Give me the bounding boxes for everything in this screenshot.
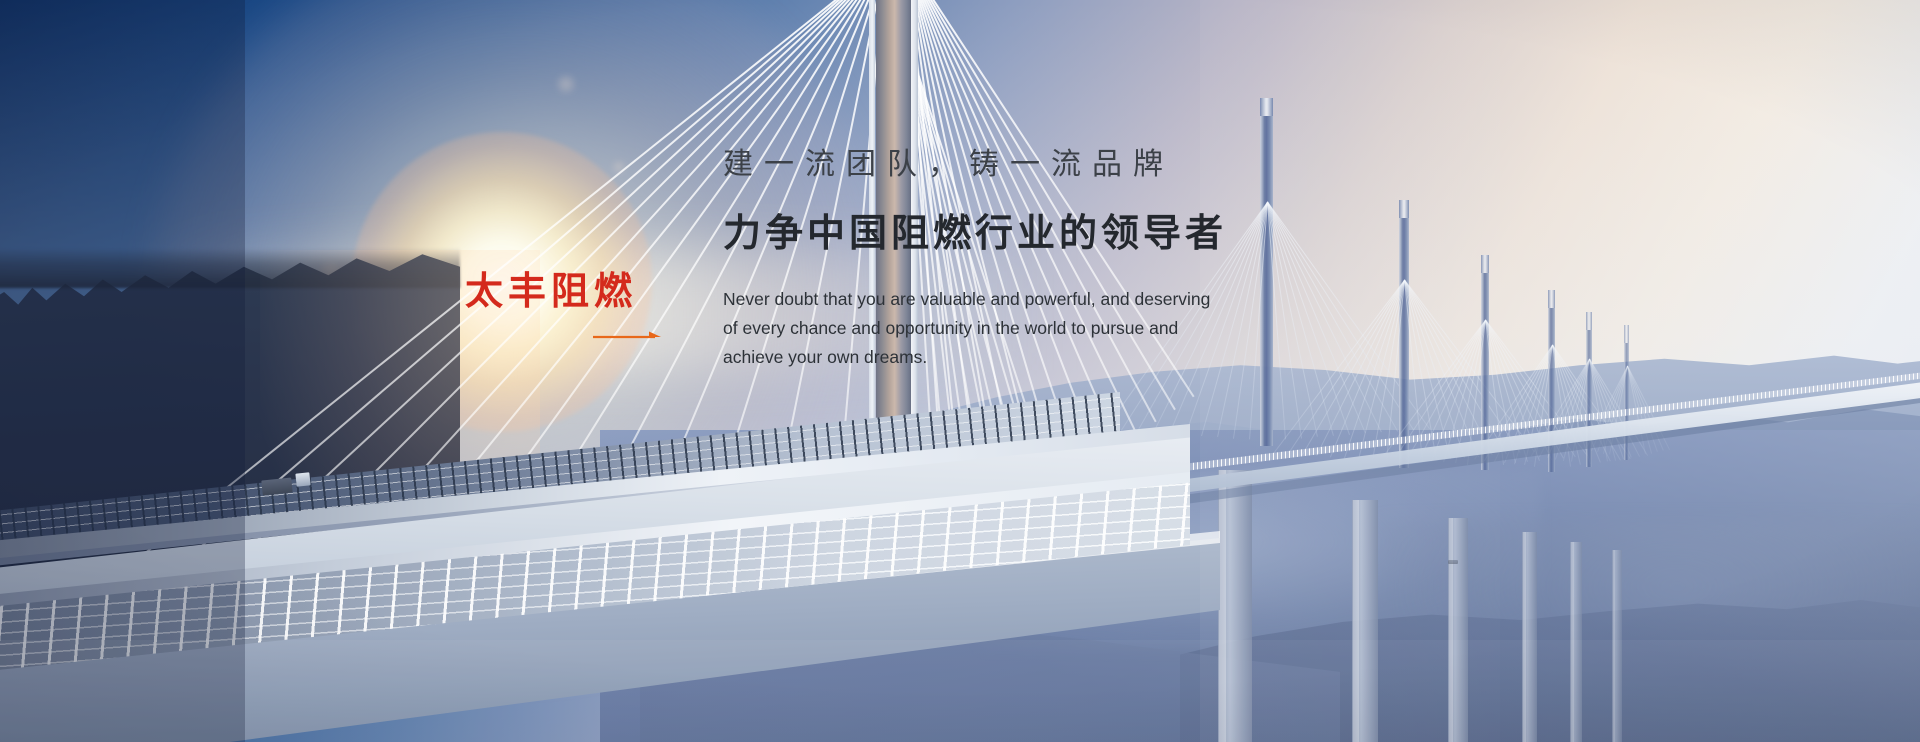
hero-subtext-line: achieve your own dreams. [723, 343, 1193, 372]
headline-primary: 建一流团队，铸一流品牌 [723, 148, 1543, 181]
arrow-right-icon [593, 330, 665, 344]
hero-banner: 太丰阻燃 建一流团队，铸一流品牌 力争中国阻燃行业的领导者 Never doub… [0, 0, 1920, 742]
hero-subtext-line: Never doubt that you are valuable and po… [723, 285, 1193, 314]
brand-logo-text: 太丰阻燃 [465, 272, 665, 310]
hero-subtext: Never doubt that you are valuable and po… [723, 285, 1193, 372]
hero-subtext-line: of every chance and opportunity in the w… [723, 314, 1193, 343]
headline-secondary: 力争中国阻燃行业的领导者 [723, 213, 1543, 255]
brand-logo[interactable]: 太丰阻燃 [465, 272, 665, 344]
hero-copy: 建一流团队，铸一流品牌 力争中国阻燃行业的领导者 Never doubt tha… [723, 148, 1543, 372]
brand-underline-arrow [465, 330, 665, 344]
